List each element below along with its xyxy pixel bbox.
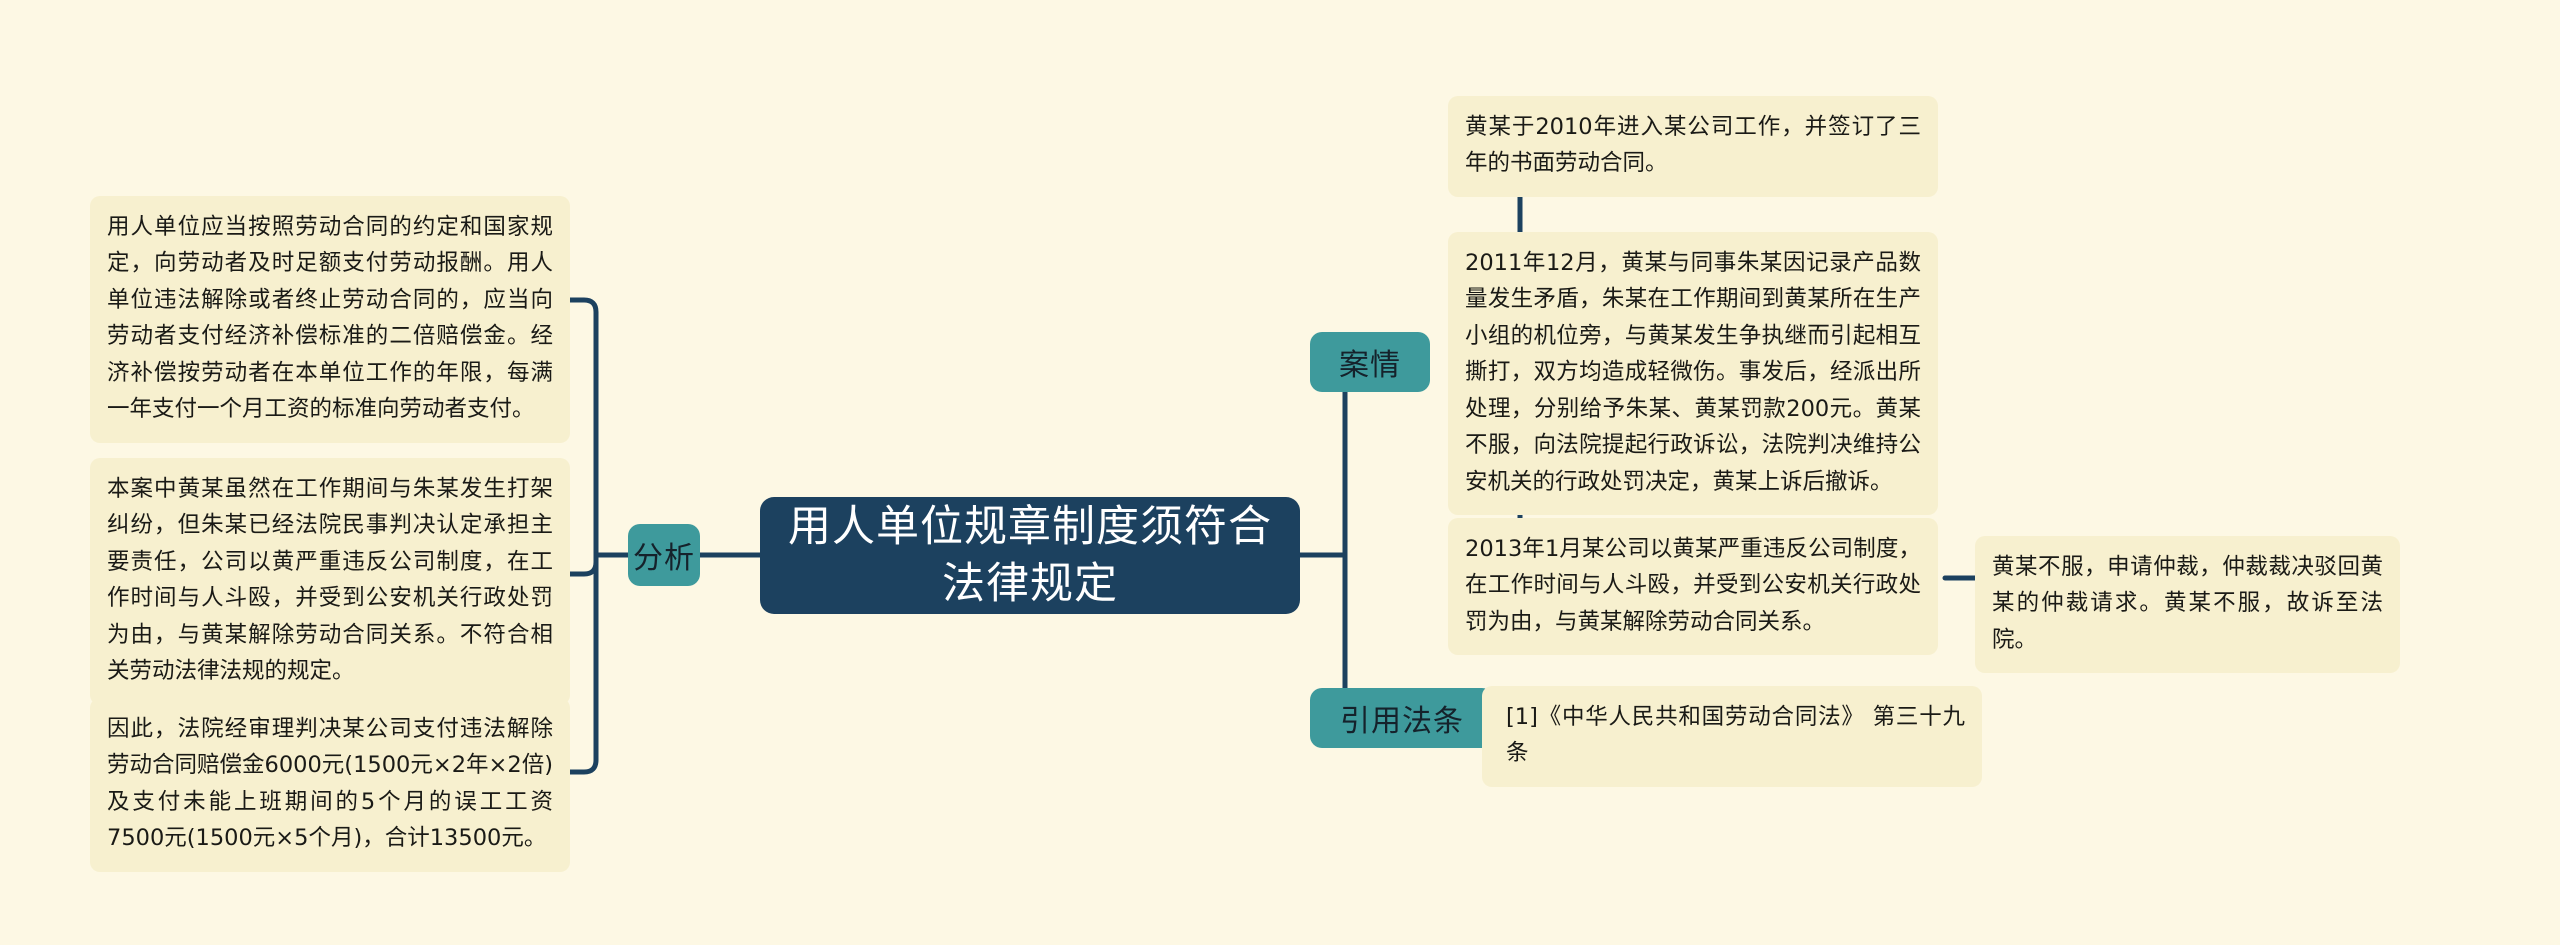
case-facts-item-3[interactable]: 2013年1月某公司以黄某严重违反公司制度，在工作时间与人斗殴，并受到公安机关行… [1448,518,1938,655]
branch-label-case-facts-text: 案情 [1339,340,1401,384]
analysis-item-1[interactable]: 用人单位应当按照劳动合同的约定和国家规定，向劳动者及时足额支付劳动报酬。用人单位… [90,196,570,443]
branch-label-analysis[interactable]: 分析 [628,524,700,586]
analysis-item-1-text: 用人单位应当按照劳动合同的约定和国家规定，向劳动者及时足额支付劳动报酬。用人单位… [107,214,553,422]
case-facts-item-3-child-1-text: 黄某不服，申请仲裁，仲裁裁决驳回黄某的仲裁请求。黄某不服，故诉至法院。 [1992,554,2383,653]
root-node-label: 用人单位规章制度须符合法律规定 [782,499,1278,613]
case-facts-item-3-text: 2013年1月某公司以黄某严重违反公司制度，在工作时间与人斗殴，并受到公安机关行… [1465,536,1921,635]
mindmap-canvas: 用人单位规章制度须符合法律规定 分析 用人单位应当按照劳动合同的约定和国家规定，… [0,0,2560,945]
case-facts-item-2-text: 2011年12月，黄某与同事朱某因记录产品数量发生矛盾，朱某在工作期间到黄某所在… [1465,250,1921,495]
branch-label-cited-law-text: 引用法条 [1340,696,1464,740]
cited-law-item-1[interactable]: [1]《中华人民共和国劳动合同法》 第三十九条 [1482,686,1982,787]
branch-label-case-facts[interactable]: 案情 [1310,332,1430,392]
analysis-item-2-text: 本案中黄某虽然在工作期间与朱某发生打架纠纷，但朱某已经法院民事判决认定承担主要责… [107,476,553,684]
case-facts-item-1[interactable]: 黄某于2010年进入某公司工作，并签订了三年的书面劳动合同。 [1448,96,1938,197]
root-node[interactable]: 用人单位规章制度须符合法律规定 [760,497,1300,614]
branch-label-cited-law[interactable]: 引用法条 [1310,688,1494,748]
case-facts-item-3-child-1[interactable]: 黄某不服，申请仲裁，仲裁裁决驳回黄某的仲裁请求。黄某不服，故诉至法院。 [1975,536,2400,673]
case-facts-item-2[interactable]: 2011年12月，黄某与同事朱某因记录产品数量发生矛盾，朱某在工作期间到黄某所在… [1448,232,1938,515]
analysis-item-3[interactable]: 因此，法院经审理判决某公司支付违法解除劳动合同赔偿金6000元(1500元×2年… [90,698,570,872]
case-facts-item-1-text: 黄某于2010年进入某公司工作，并签订了三年的书面劳动合同。 [1465,114,1921,176]
analysis-item-3-text: 因此，法院经审理判决某公司支付违法解除劳动合同赔偿金6000元(1500元×2年… [107,716,553,851]
analysis-item-2[interactable]: 本案中黄某虽然在工作期间与朱某发生打架纠纷，但朱某已经法院民事判决认定承担主要责… [90,458,570,705]
branch-label-analysis-text: 分析 [633,533,695,577]
cited-law-item-1-text: [1]《中华人民共和国劳动合同法》 第三十九条 [1506,704,1965,766]
